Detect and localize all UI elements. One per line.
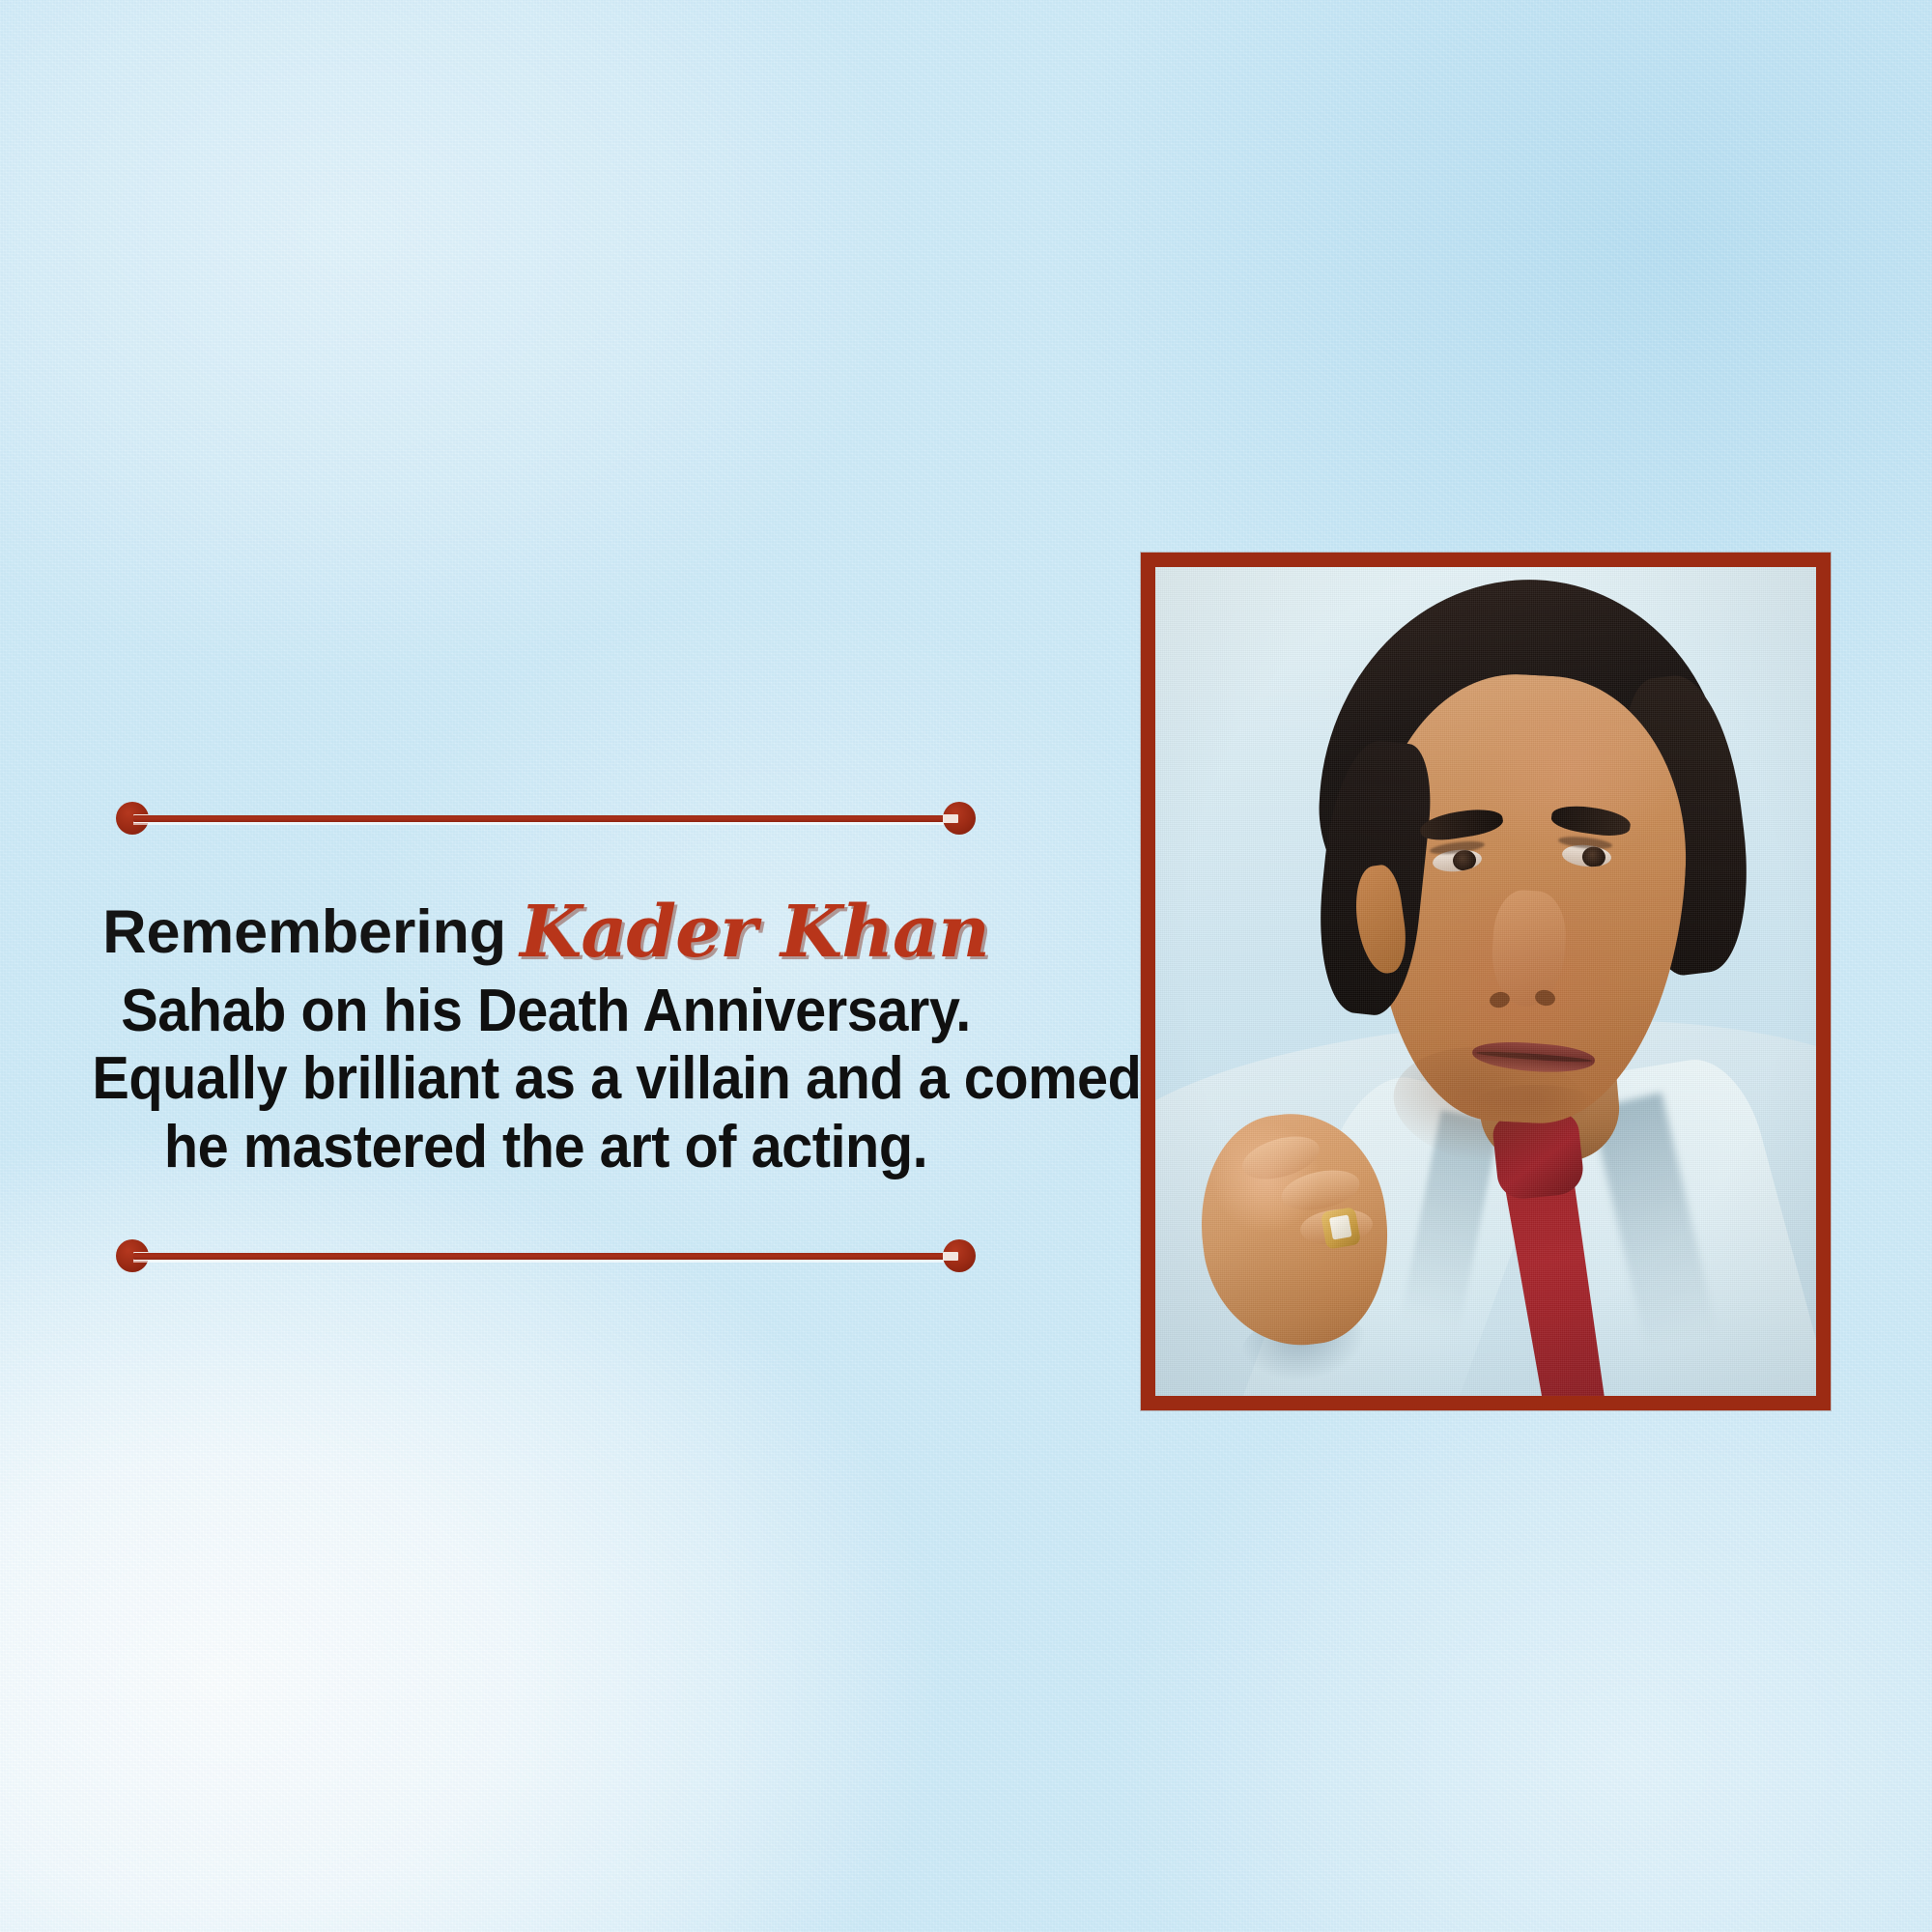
tribute-body-line-1: Sahab on his Death Anniversary. <box>92 978 999 1045</box>
divider-bar <box>133 1253 958 1260</box>
divider-end-cap-right-icon <box>943 1239 976 1272</box>
iris-right <box>1581 846 1605 868</box>
tribute-headline: RememberingKader Khan <box>58 891 1034 966</box>
finger-ring <box>1321 1207 1361 1250</box>
tribute-body-line-3: he mastered the art of acting. <box>92 1114 999 1181</box>
top-divider <box>116 802 976 835</box>
divider-bar <box>133 815 958 822</box>
poster-canvas: RememberingKader Khan Sahab on his Death… <box>0 0 1932 1932</box>
headline-prefix: Remembering <box>102 898 506 966</box>
portrait-photo <box>1155 567 1816 1396</box>
tribute-message-block: RememberingKader Khan Sahab on his Death… <box>58 802 1034 1272</box>
bottom-divider <box>116 1239 976 1272</box>
background-wash-top-left <box>0 0 1014 715</box>
tribute-body-line-2: Equally brilliant as a villain and a com… <box>92 1045 999 1113</box>
honoree-name: Kader Khan <box>520 891 989 974</box>
tribute-body: Sahab on his Death Anniversary. Equally … <box>92 978 999 1180</box>
portrait-photo-frame <box>1141 553 1831 1410</box>
divider-end-cap-right-icon <box>943 802 976 835</box>
